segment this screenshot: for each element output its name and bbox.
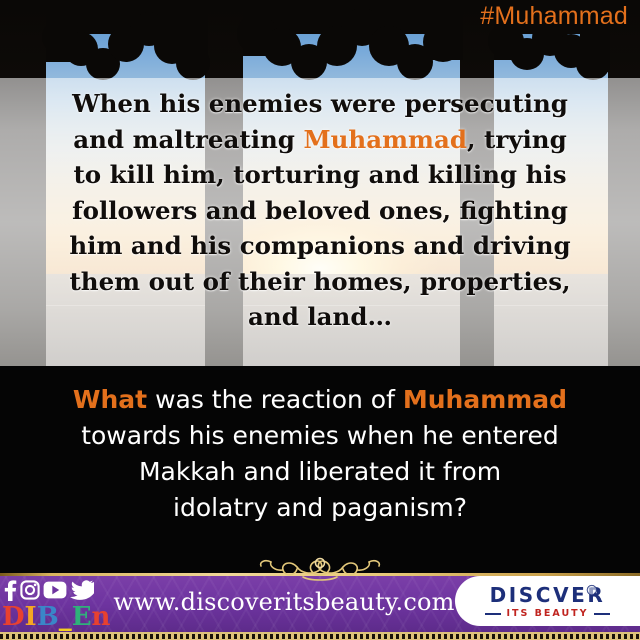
quote-segment: and maltreating	[73, 125, 303, 154]
quote-line: followers and beloved ones, fighting	[62, 193, 578, 229]
handle-letter: I	[25, 604, 37, 630]
handle-letter: _	[59, 604, 72, 630]
quote-text: When his enemies were persecutingand mal…	[0, 86, 640, 335]
twitter-icon[interactable]	[70, 580, 94, 600]
account-handle[interactable]: DIB_En	[2, 604, 110, 630]
question-line: What was the reaction of Muhammad	[38, 382, 602, 418]
facebook-icon[interactable]	[3, 579, 17, 601]
poster-canvas: #Muhammad When his enemies were persecut…	[0, 0, 640, 640]
quote-segment: When his enemies were persecuting	[72, 89, 568, 118]
quote-segment: to kill him, torturing and killing his	[73, 160, 566, 189]
quote-segment: Muhammad	[303, 125, 466, 154]
logo-tagline-dash-right	[594, 613, 610, 615]
question-segment: was the reaction of	[147, 385, 403, 414]
question-segment: What	[73, 385, 147, 414]
magnifying-glass-icon	[585, 584, 601, 600]
social-icons-group[interactable]	[3, 579, 94, 601]
logo-tagline-text: ITS BEAUTY	[506, 608, 588, 619]
question-line: idolatry and paganism?	[38, 490, 602, 526]
question-segment: Makkah and liberated it from	[139, 457, 501, 486]
brand-logo[interactable]: DISCVER ITS BEAUTY	[455, 576, 640, 626]
handle-letter: E	[72, 604, 92, 630]
quote-line: and land…	[62, 299, 578, 335]
quote-segment: , trying	[467, 125, 567, 154]
question-segment: towards his enemies when he entered	[81, 421, 559, 450]
instagram-icon[interactable]	[20, 580, 40, 600]
quote-line: them out of their homes, properties,	[62, 264, 578, 300]
question-text: What was the reaction of Muhammadtowards…	[0, 382, 640, 526]
quote-line: to kill him, torturing and killing his	[62, 157, 578, 193]
logo-wordmark: DISCVER	[490, 585, 606, 605]
footer-bar: DIB_En www.discoveritsbeauty.com DISCVER…	[0, 555, 640, 640]
footer-bottom-strip	[0, 632, 640, 640]
quote-segment: him and his companions and driving	[69, 231, 570, 260]
question-segment: Muhammad	[403, 385, 567, 414]
quote-segment: and land…	[248, 302, 392, 331]
hashtag-label: #Muhammad	[480, 2, 628, 31]
handle-letter: B	[37, 604, 59, 630]
logo-tagline: ITS BEAUTY	[485, 608, 609, 619]
quote-line: and maltreating Muhammad, trying	[62, 122, 578, 158]
logo-wordmark-prefix: DISC	[490, 583, 554, 607]
handle-letter: D	[2, 604, 25, 630]
logo-tagline-dash-left	[485, 613, 501, 615]
youtube-icon[interactable]	[43, 581, 67, 599]
website-url[interactable]: www.discoveritsbeauty.com	[104, 588, 464, 616]
quote-line: When his enemies were persecuting	[62, 86, 578, 122]
quote-line: him and his companions and driving	[62, 228, 578, 264]
question-line: towards his enemies when he entered	[38, 418, 602, 454]
quote-segment: followers and beloved ones, fighting	[72, 196, 568, 225]
question-segment: idolatry and paganism?	[173, 493, 467, 522]
quote-segment: them out of their homes, properties,	[69, 267, 570, 296]
question-line: Makkah and liberated it from	[38, 454, 602, 490]
